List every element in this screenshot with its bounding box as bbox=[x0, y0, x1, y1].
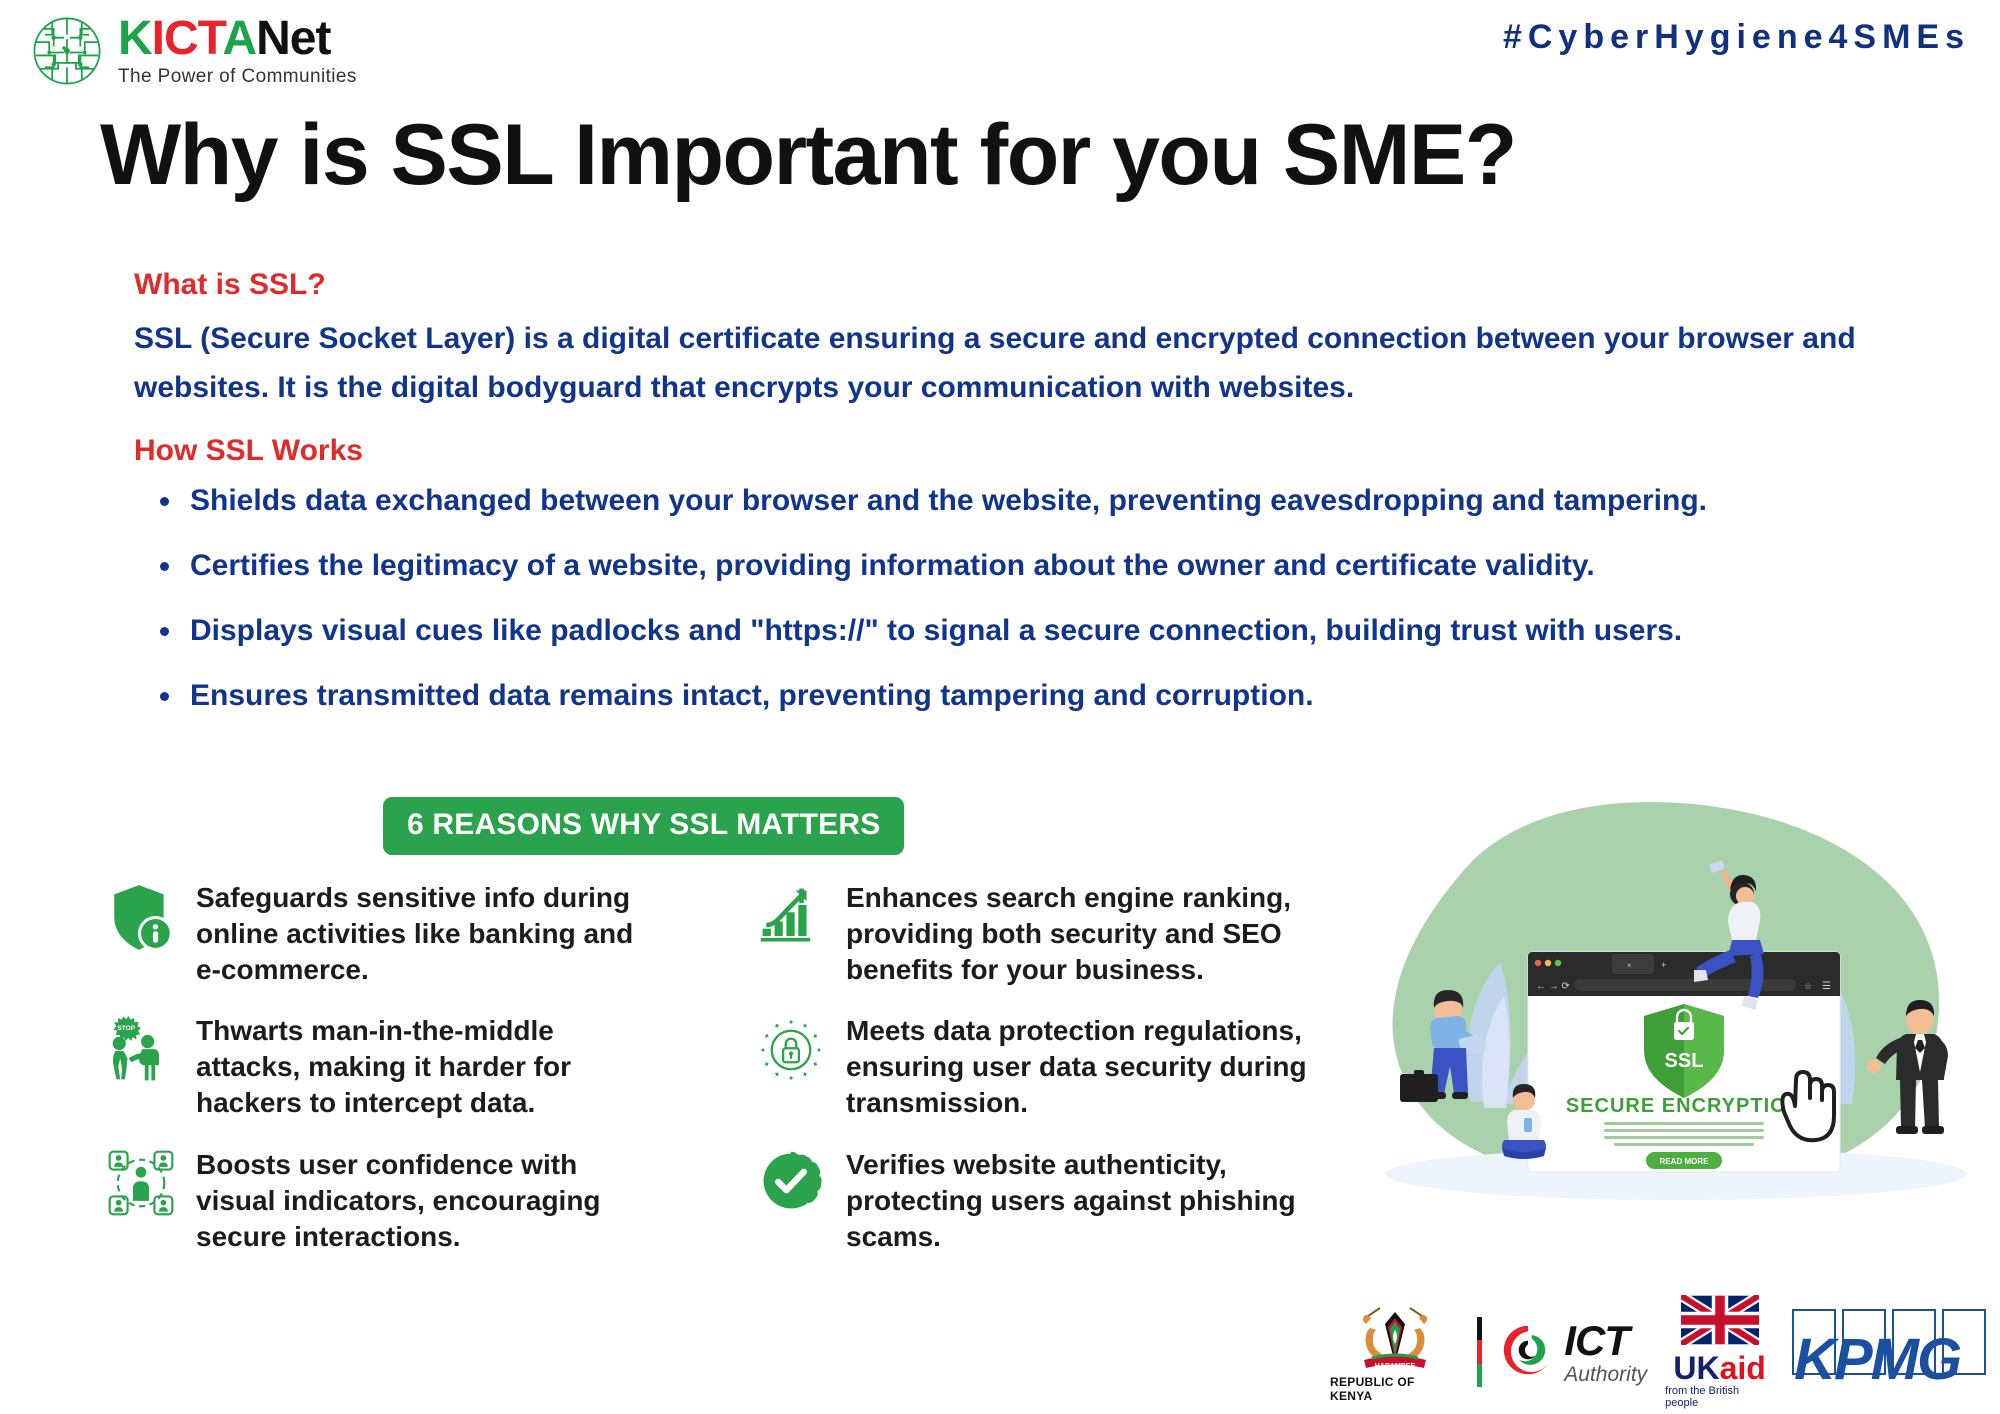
ukaid-uk: UK bbox=[1673, 1350, 1719, 1386]
shield-info-icon bbox=[104, 878, 178, 964]
svg-text:READ MORE: READ MORE bbox=[1660, 1157, 1710, 1166]
brand-part-ict: ICT bbox=[152, 12, 223, 65]
kpmg-wordmark: KPMG bbox=[1794, 1331, 1960, 1389]
ict-main-label: ICT bbox=[1564, 1320, 1647, 1362]
svg-text:☰: ☰ bbox=[1822, 981, 1831, 992]
copy-block: What is SSL? SSL (Secure Socket Layer) i… bbox=[134, 268, 1934, 743]
reason-item: Enhances search engine ranking, providin… bbox=[754, 878, 1354, 987]
reasons-badge: 6 REASONS WHY SSL MATTERS bbox=[383, 797, 904, 855]
brand-wordmark: KICTANet bbox=[118, 15, 357, 63]
list-item: Certifies the legitimacy of a website, p… bbox=[134, 548, 1934, 584]
stop-hand-icon: STOP bbox=[104, 1011, 178, 1097]
reason-text: Meets data protection regulations, ensur… bbox=[846, 1011, 1354, 1120]
what-is-ssl-body: SSL (Secure Socket Layer) is a digital c… bbox=[134, 315, 1894, 412]
reasons-grid: Safeguards sensitive info during online … bbox=[104, 878, 1364, 1254]
list-item: Shields data exchanged between your brow… bbox=[134, 483, 1934, 519]
reason-text: Safeguards sensitive info during online … bbox=[196, 878, 664, 987]
window-minimize-dot bbox=[1545, 960, 1551, 966]
window-close-dot bbox=[1535, 960, 1541, 966]
reason-item: Boosts user confidence with visual indic… bbox=[104, 1145, 664, 1254]
illustration-heading: SECURE ENCRYPTION bbox=[1566, 1095, 1802, 1117]
ukaid-logo: UKaid from the British people bbox=[1665, 1295, 1774, 1409]
reason-text: Enhances search engine ranking, providin… bbox=[846, 878, 1354, 987]
reason-item: Meets data protection regulations, ensur… bbox=[754, 1011, 1354, 1120]
ukaid-tagline: from the British people bbox=[1665, 1385, 1774, 1409]
svg-text:×: × bbox=[1627, 961, 1632, 970]
shield-ssl-label: SSL bbox=[1665, 1050, 1704, 1072]
brand-part-net: Net bbox=[256, 12, 330, 65]
reason-item: Safeguards sensitive info during online … bbox=[104, 878, 664, 987]
svg-text:← → ⟳: ← → ⟳ bbox=[1536, 981, 1571, 992]
brand-part-a: A bbox=[222, 12, 256, 65]
brand-tagline: The Power of Communities bbox=[118, 66, 357, 88]
how-ssl-works-heading: How SSL Works bbox=[134, 434, 1934, 467]
ict-authority-logo: ICT Authority bbox=[1500, 1320, 1647, 1385]
window-maximize-dot bbox=[1555, 960, 1561, 966]
ukaid-aid: aid bbox=[1720, 1350, 1766, 1386]
list-item: Displays visual cues like padlocks and "… bbox=[134, 613, 1934, 649]
partner-logos: HARAMBEE REPUBLIC OF KENYA ICT Authority bbox=[1330, 1296, 1990, 1408]
circuit-circle-icon bbox=[30, 14, 104, 88]
svg-text:STOP: STOP bbox=[117, 1026, 135, 1033]
what-is-ssl-heading: What is SSL? bbox=[134, 268, 1934, 301]
ssl-illustration: × + ← → ⟳ ☆ ☰ SSL SECURE ENCRYPTION READ… bbox=[1352, 782, 2000, 1212]
reason-item: Verifies website authenticity, protectin… bbox=[754, 1145, 1354, 1254]
users-network-icon bbox=[104, 1145, 178, 1231]
page-header: KICTANet The Power of Communities #Cyber… bbox=[0, 0, 2000, 104]
svg-text:HARAMBEE: HARAMBEE bbox=[1374, 1363, 1415, 1370]
kictanet-logo: KICTANet The Power of Communities bbox=[30, 14, 357, 88]
kpmg-logo: KPMG bbox=[1792, 1309, 1990, 1395]
svg-text:+: + bbox=[1661, 960, 1666, 970]
kenya-caption: REPUBLIC OF KENYA bbox=[1330, 1375, 1459, 1403]
page-title: Why is SSL Important for you SME? bbox=[100, 112, 1960, 198]
ukaid-wordmark: UKaid bbox=[1673, 1352, 1765, 1384]
logo-divider bbox=[1477, 1317, 1482, 1387]
campaign-hashtag: #CyberHygiene4SMEs bbox=[1503, 18, 1970, 57]
ict-swirl-icon bbox=[1500, 1322, 1556, 1383]
how-ssl-works-list: Shields data exchanged between your brow… bbox=[134, 483, 1934, 714]
verified-check-icon bbox=[754, 1145, 828, 1231]
kenya-coat-of-arms-icon: HARAMBEE REPUBLIC OF KENYA bbox=[1330, 1302, 1459, 1403]
reason-text: Verifies website authenticity, protectin… bbox=[846, 1145, 1354, 1254]
svg-text:☆: ☆ bbox=[1804, 981, 1812, 991]
ict-sub-label: Authority bbox=[1564, 1364, 1647, 1385]
list-item: Ensures transmitted data remains intact,… bbox=[134, 678, 1934, 714]
reason-text: Boosts user confidence with visual indic… bbox=[196, 1145, 664, 1254]
reason-text: Thwarts man-in-the-middle attacks, makin… bbox=[196, 1011, 664, 1120]
growth-chart-icon bbox=[754, 878, 828, 964]
union-jack-icon bbox=[1681, 1295, 1759, 1350]
brand-part-k: K bbox=[118, 12, 152, 65]
reason-item: STOP Thwarts man-in-the-middle attacks, … bbox=[104, 1011, 664, 1120]
gdpr-lock-stars-icon bbox=[754, 1011, 828, 1097]
